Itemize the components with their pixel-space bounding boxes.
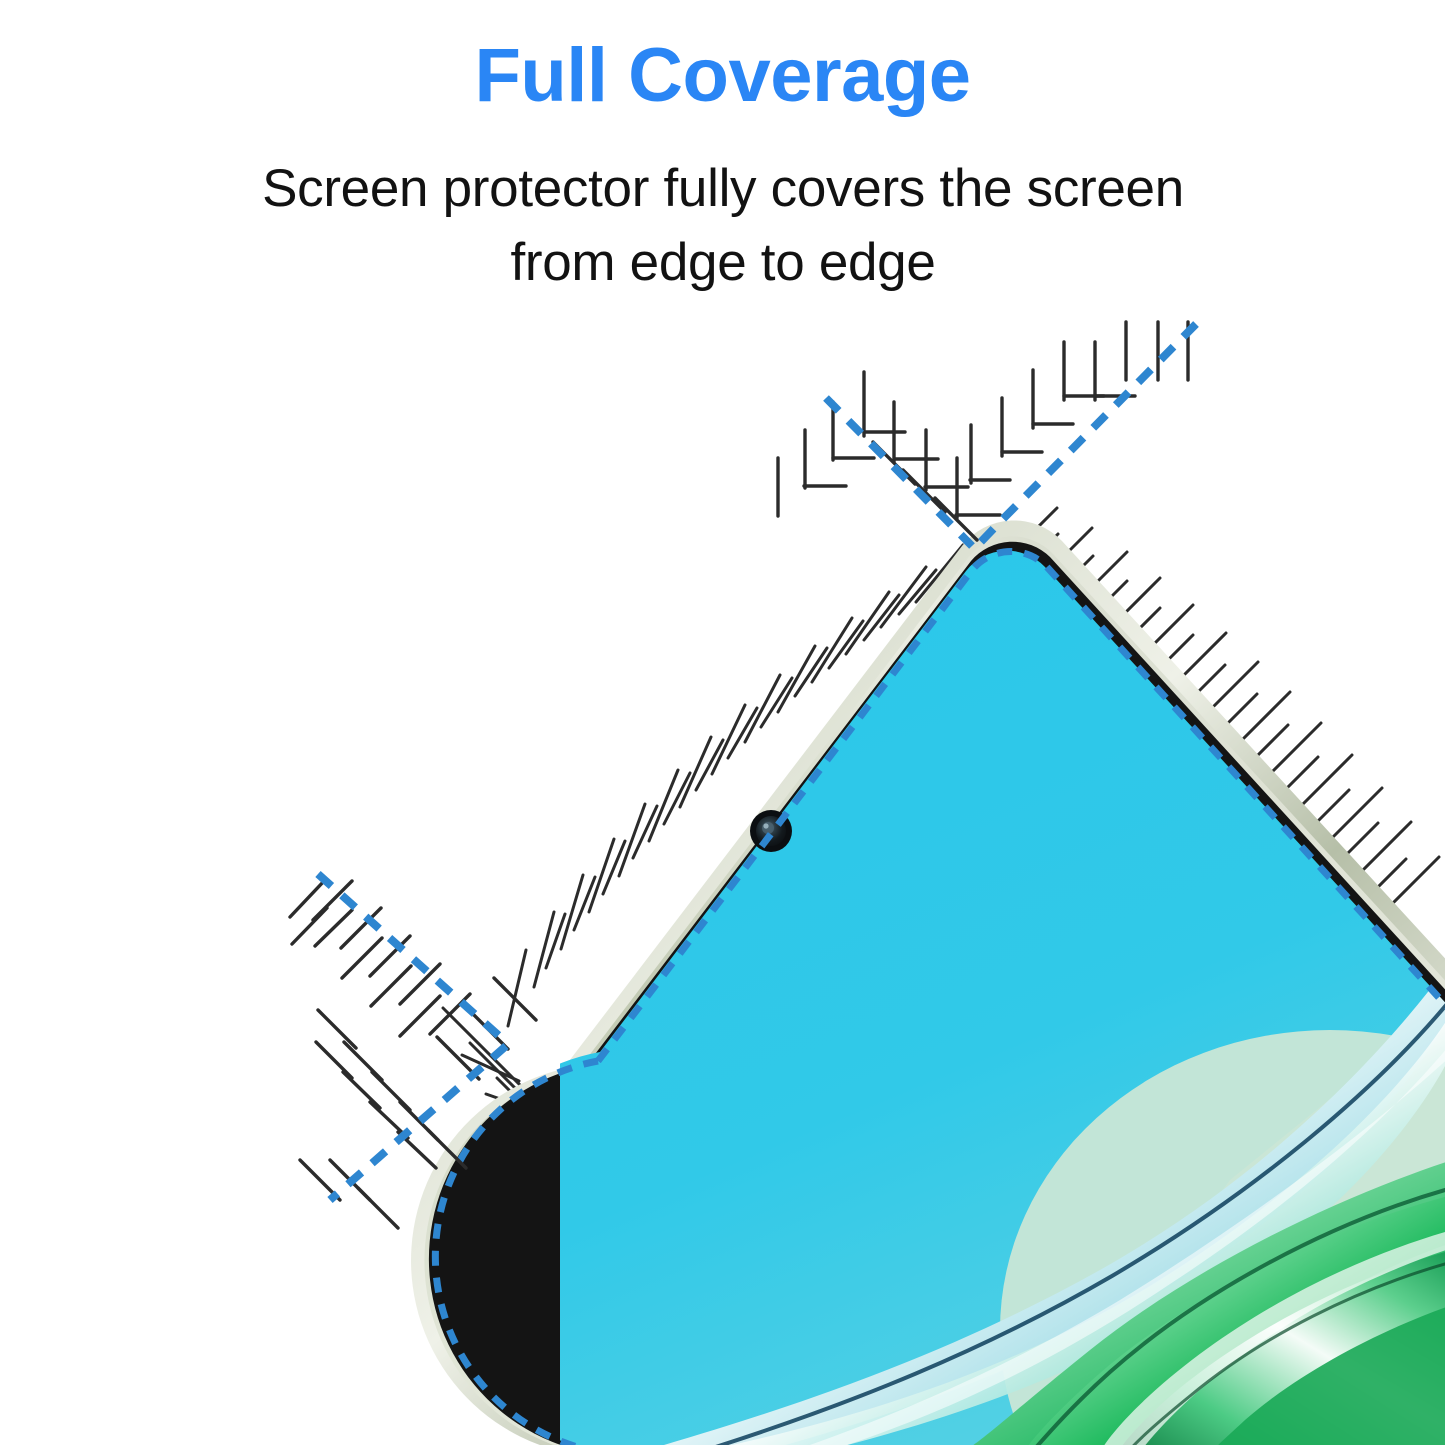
device-illustration [0,0,1445,1445]
product-feature-graphic: Full Coverage Screen protector fully cov… [0,0,1445,1445]
callout-top-corner [778,322,1196,548]
device-screen [560,520,1445,1445]
